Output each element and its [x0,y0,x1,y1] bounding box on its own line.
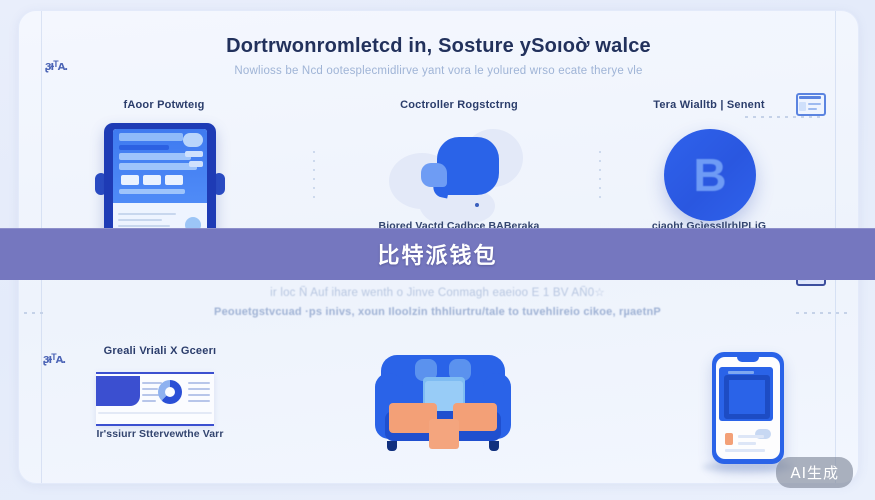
mobile-phone-illustration [712,352,784,464]
coin-symbol: B [664,129,756,221]
feature-caption: Ir'ssiurr Sttervewthe Varr [55,428,265,440]
middle-text-line-2: Peouetgstvcuad ·ps inivs, xoun Iloolzin … [0,306,875,318]
dotted-separator [796,312,847,314]
feature-column-3: Tera Wialltb | Senent [619,99,799,111]
feature-label: fAoor Potwteıg [79,99,249,111]
title-banner: 比特派钱包 [0,228,875,280]
feature-caption-4-wrap: Ir'ssiurr Sttervewthe Varr [55,428,265,440]
page-subtitle: Nowlioss be Ncd ootesplecmidlirve yant v… [19,65,858,77]
dotted-divider [313,151,315,198]
page-title: Dortrwonromletcd in, Sosture ySoıоờ walc… [19,35,858,58]
dotted-divider [599,151,601,198]
card-window-icon [796,93,826,116]
feature-label: Coctroller Rogstctrng [359,99,559,111]
couch-people-illustration [375,355,511,453]
page-background: Dortrwonromletcd in, Sosture ySoıоờ walc… [0,0,875,500]
ai-generated-watermark: AI生成 [776,457,853,488]
feature-column-2: Coctroller Rogstctrng [359,99,559,111]
feature-column-4: Greali Vriali X Gceerı [60,345,260,357]
dotted-separator [24,312,43,314]
feature-label: Greali Vriali X Gceerı [60,345,260,357]
feature-column-1: fAoor Potwteıg [79,99,249,111]
bitcoin-coin-illustration: B [664,129,756,221]
feature-label: Tera Wialltb | Senent [619,99,799,111]
banner-title: 比特派钱包 [377,238,497,270]
decorative-glyph-top-left: ᶔᵻᵀᴀ. [45,58,67,73]
middle-text-line-1: ir loc Ñ Auf ihare wenth o Jinve Conmagh… [0,285,875,299]
dashboard-chart-illustration [96,372,214,426]
dotted-separator [745,116,820,118]
